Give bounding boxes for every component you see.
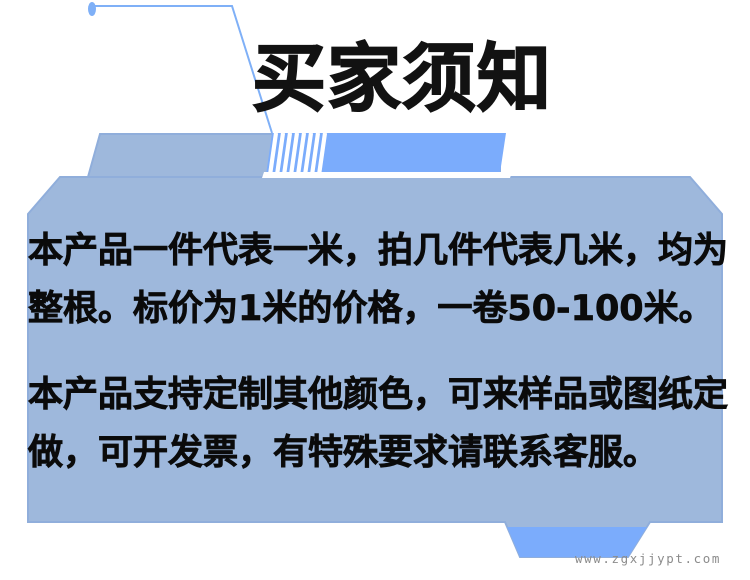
notice-text-block: 本产品一件代表一米，拍几件代表几米，均为整根。标价为1米的价格，一卷50-100… xyxy=(28,222,728,482)
ribbon-underline xyxy=(262,172,512,178)
page-title: 买家须知 xyxy=(252,36,672,122)
notice-paragraph-2: 本产品支持定制其他颜色，可来样品或图纸定做，可开发票，有特殊要求请联系客服。 xyxy=(28,366,728,482)
promo-banner: 买家须知 本产品一件代表一米，拍几件代表几米，均为整根。标价为1米的价格，一卷5… xyxy=(0,0,750,580)
stripe-ribbon xyxy=(266,133,330,175)
top-accent-line xyxy=(93,6,272,133)
site-watermark: www.zgxjjypt.com xyxy=(575,551,721,566)
line-start-dot xyxy=(88,2,96,16)
header-accent-plate xyxy=(320,133,506,173)
notice-paragraph-1: 本产品一件代表一米，拍几件代表几米，均为整根。标价为1米的价格，一卷50-100… xyxy=(28,222,728,338)
